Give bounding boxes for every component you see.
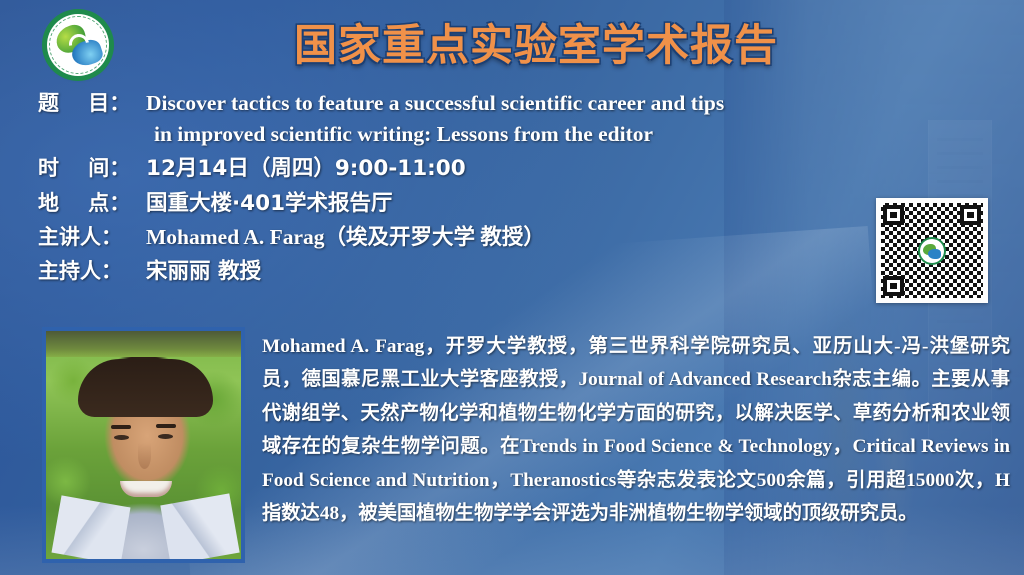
portrait-eyebrow-left (111, 425, 131, 429)
speaker-biography: Mohamed A. Farag，开罗大学教授，第三世界科学院研究员、亚历山大-… (262, 330, 1010, 530)
portrait-nose (138, 443, 151, 469)
qr-center-logo-icon (920, 239, 944, 263)
speaker-value: Mohamed A. Farag（埃及开罗大学 教授） (146, 222, 545, 253)
qr-finder-top-right-icon (960, 205, 981, 225)
info-row-speaker: 主讲人： Mohamed A. Farag（埃及开罗大学 教授） (38, 222, 998, 253)
qr-finder-bottom-left-icon (883, 276, 904, 296)
portrait-eyebrow-right (156, 424, 176, 428)
qr-finder-top-left-icon (883, 205, 904, 225)
qr-logo-blue-swirl-icon (928, 249, 941, 259)
qr-code-matrix (881, 203, 983, 298)
location-value: 国重大楼·401学术报告厅 (146, 188, 393, 219)
poster-header: 国家重点实验室学术报告 (0, 0, 1024, 88)
wechat-qr-code[interactable] (876, 198, 988, 303)
info-row-host: 主持人： 宋丽丽 教授 (38, 256, 998, 287)
portrait-background-hedge (46, 331, 241, 357)
topic-label: 题 目： (38, 88, 146, 119)
time-value: 12月14日（周四）9:00-11:00 (146, 153, 466, 184)
portrait-hair (78, 359, 213, 417)
seminar-info-block: 题 目： Discover tactics to feature a succe… (38, 88, 998, 290)
info-row-location: 地 点： 国重大楼·401学术报告厅 (38, 188, 998, 219)
host-label: 主持人： (38, 256, 146, 287)
topic-value-line1: Discover tactics to feature a successful… (146, 91, 724, 115)
info-row-time: 时 间： 12月14日（周四）9:00-11:00 (38, 153, 998, 184)
page-title: 国家重点实验室学术报告 (0, 11, 1024, 73)
topic-value-line2: in improved scientific writing: Lessons … (146, 119, 724, 150)
speaker-label: 主讲人： (38, 222, 146, 253)
portrait-smile (120, 481, 172, 497)
info-row-topic: 题 目： Discover tactics to feature a succe… (38, 88, 998, 150)
speaker-portrait-mohamed-a-farag (42, 327, 245, 563)
host-value: 宋丽丽 教授 (146, 256, 261, 287)
topic-value: Discover tactics to feature a successful… (146, 88, 724, 150)
portrait-eye-left (114, 435, 129, 440)
location-label: 地 点： (38, 188, 146, 219)
seminar-poster: 国家重点实验室学术报告 题 目： Discover tactics to fea… (0, 0, 1024, 575)
portrait-shirt-collar-left (51, 495, 130, 563)
portrait-eye-right (158, 434, 173, 439)
time-label: 时 间： (38, 153, 146, 184)
portrait-shirt-collar-right (160, 493, 239, 563)
